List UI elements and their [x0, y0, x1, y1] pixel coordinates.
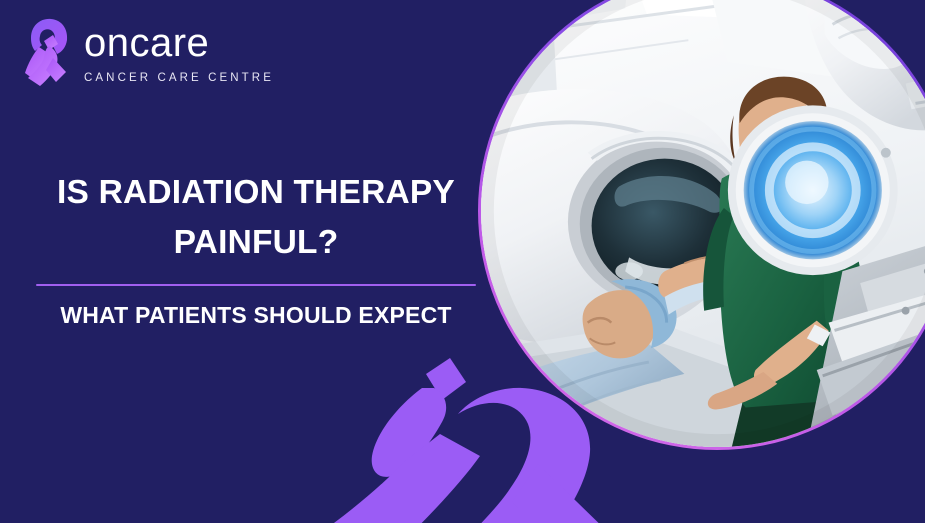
photo-circle-frame [478, 0, 925, 450]
radiation-therapy-photo [481, 0, 925, 447]
headline-line-2: PAINFUL? [30, 218, 482, 268]
brand-tagline: CANCER CARE CENTRE [84, 72, 274, 84]
brand-name: oncare [84, 23, 274, 63]
subheadline: WHAT PATIENTS SHOULD EXPECT [30, 302, 482, 330]
brand-logo[interactable]: oncare CANCER CARE CENTRE [22, 16, 274, 90]
promo-banner: oncare CANCER CARE CENTRE IS RADIATION T… [0, 0, 925, 523]
headline-block: IS RADIATION THERAPY PAINFUL? WHAT PATIE… [30, 168, 482, 330]
headline-divider [36, 284, 476, 286]
cancer-awareness-ribbon-icon [22, 16, 70, 90]
headline-line-1: IS RADIATION THERAPY [30, 168, 482, 218]
